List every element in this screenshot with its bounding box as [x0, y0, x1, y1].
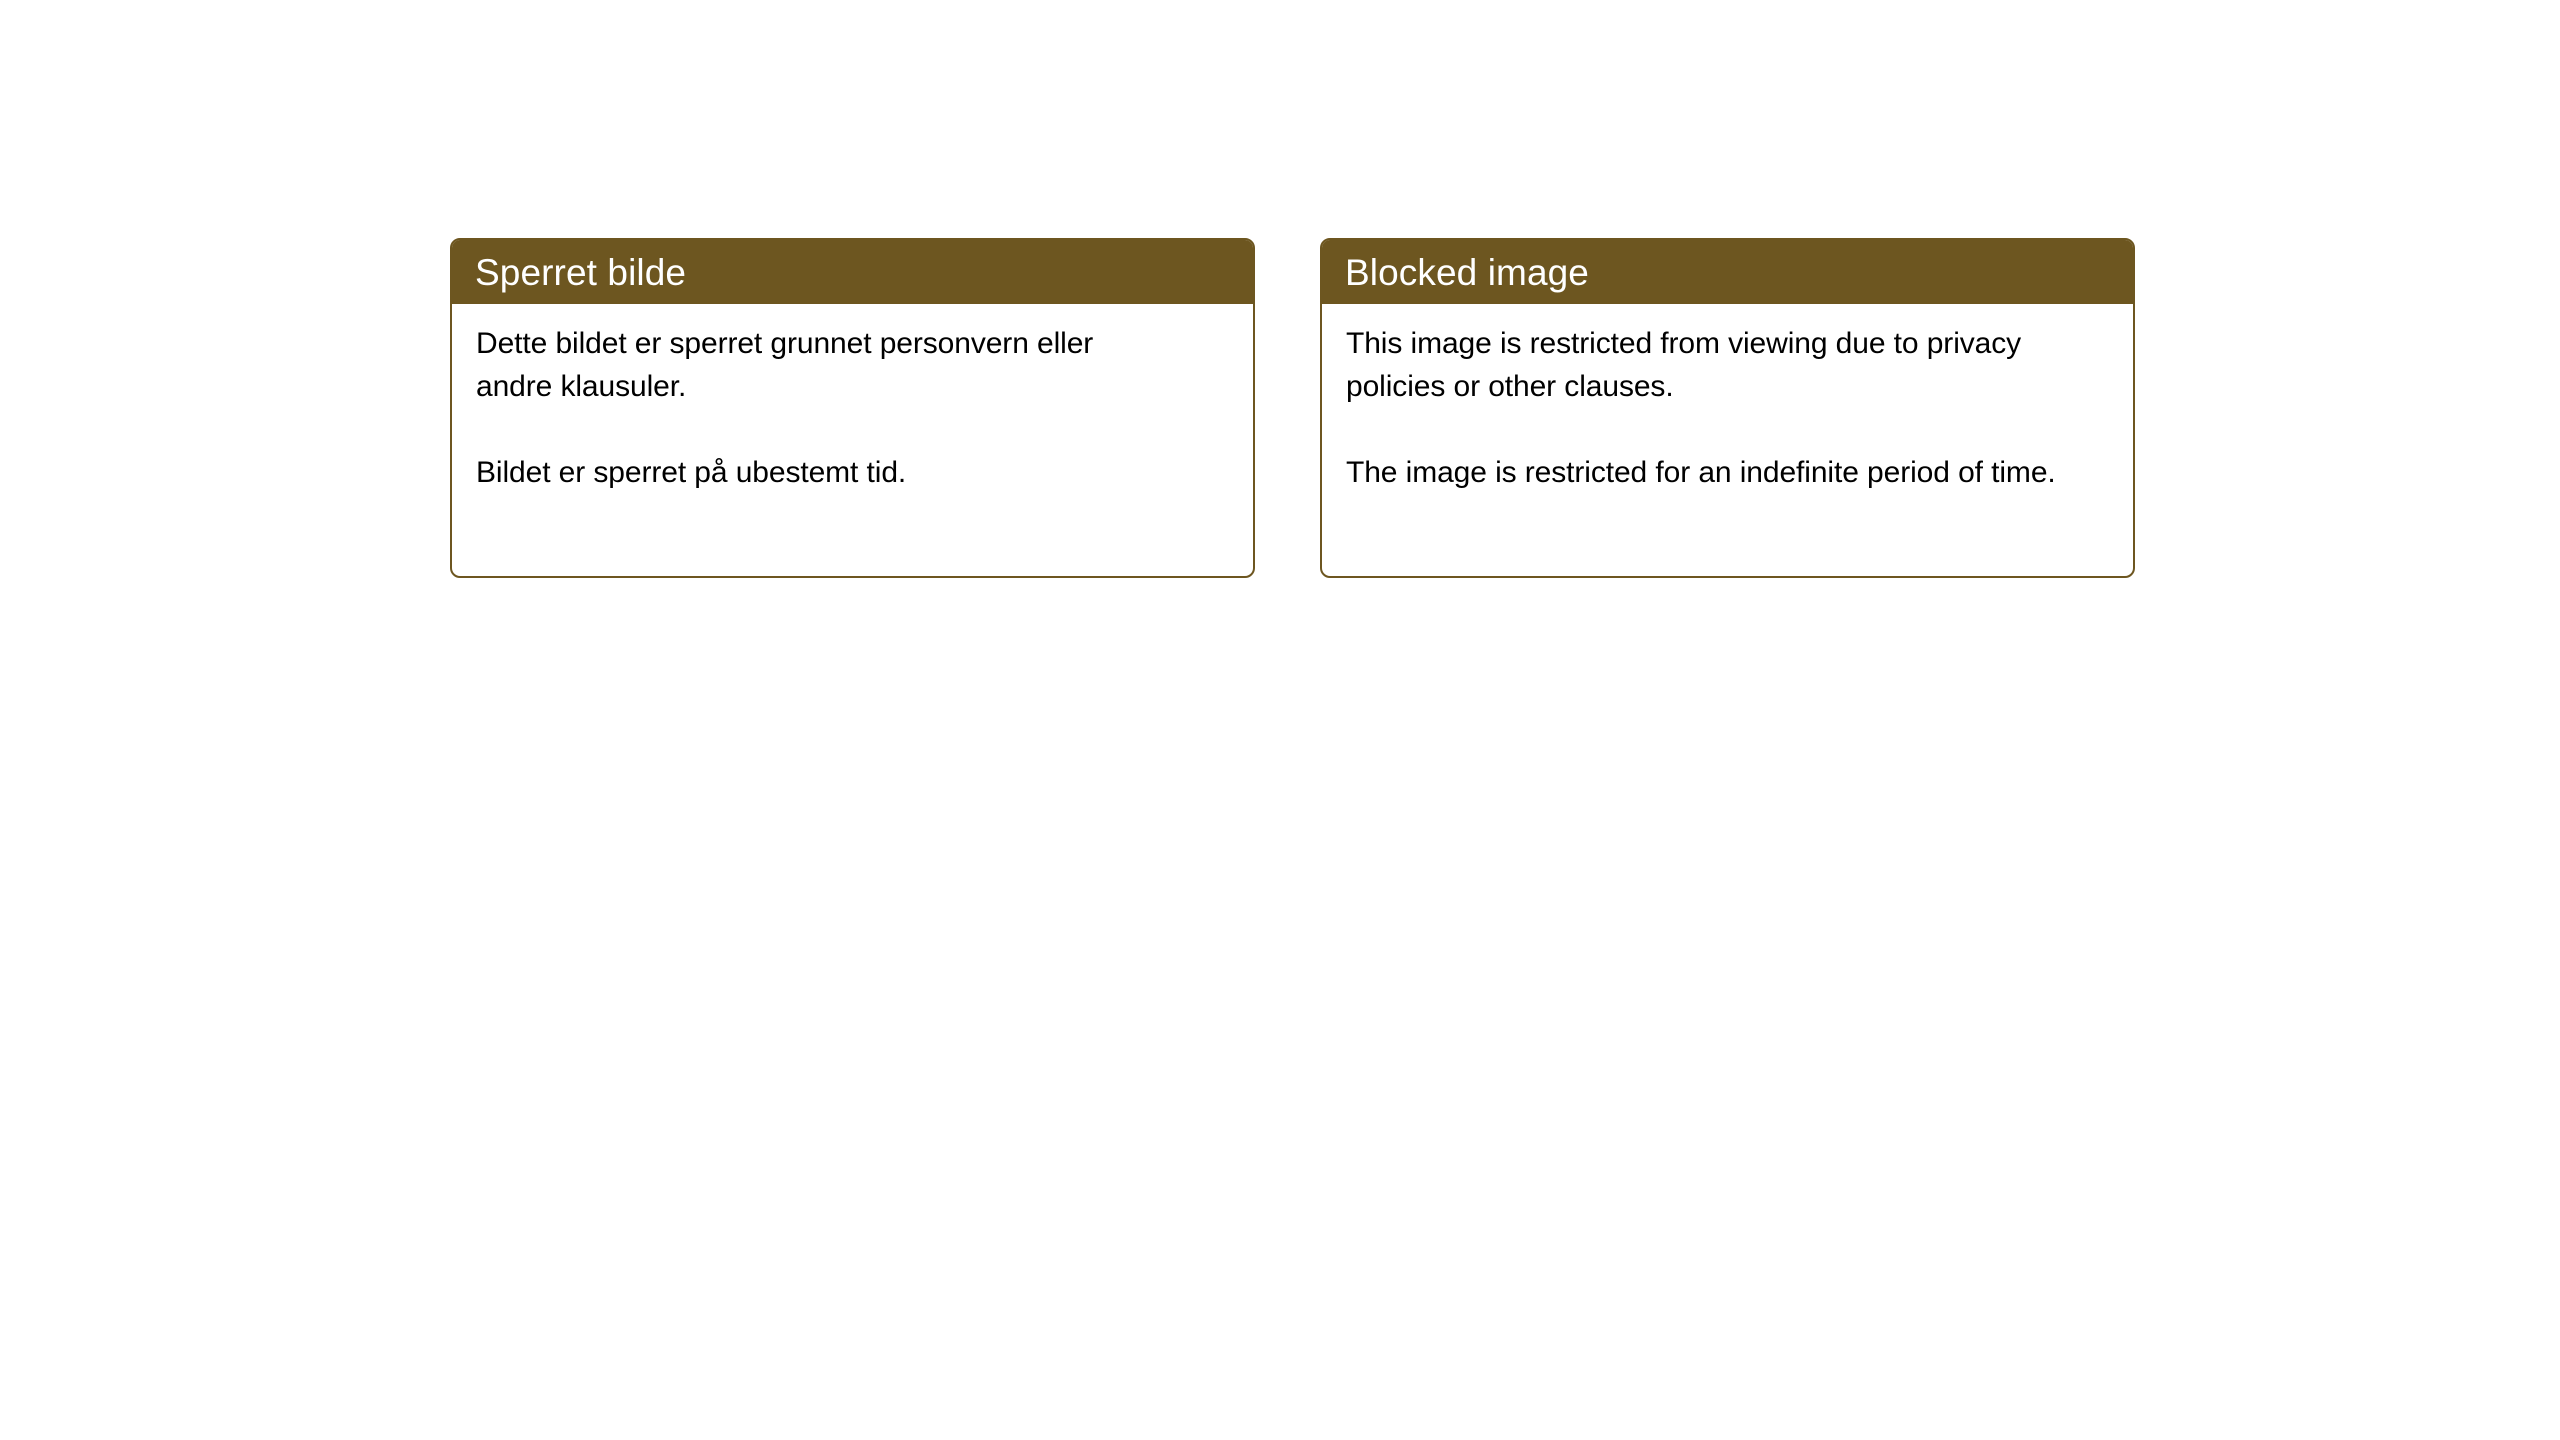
card-body-en: This image is restricted from viewing du…	[1322, 304, 2133, 494]
blocked-image-notice-card-en: Blocked image This image is restricted f…	[1320, 238, 2135, 578]
page-root: Sperret bilde Dette bildet er sperret gr…	[0, 0, 2560, 1440]
card-body-no: Dette bildet er sperret grunnet personve…	[452, 304, 1253, 494]
card-paragraph-secondary-no: Bildet er sperret på ubestemt tid.	[476, 451, 1176, 494]
blocked-image-notice-card-no: Sperret bilde Dette bildet er sperret gr…	[450, 238, 1255, 578]
card-paragraph-primary-en: This image is restricted from viewing du…	[1346, 322, 2109, 408]
card-header-en: Blocked image	[1322, 240, 2133, 304]
card-paragraph-primary-no: Dette bildet er sperret grunnet personve…	[476, 322, 1176, 408]
card-title-no: Sperret bilde	[475, 254, 686, 291]
card-header-no: Sperret bilde	[452, 240, 1253, 304]
card-paragraph-secondary-en: The image is restricted for an indefinit…	[1346, 451, 2109, 494]
card-title-en: Blocked image	[1345, 254, 1589, 291]
